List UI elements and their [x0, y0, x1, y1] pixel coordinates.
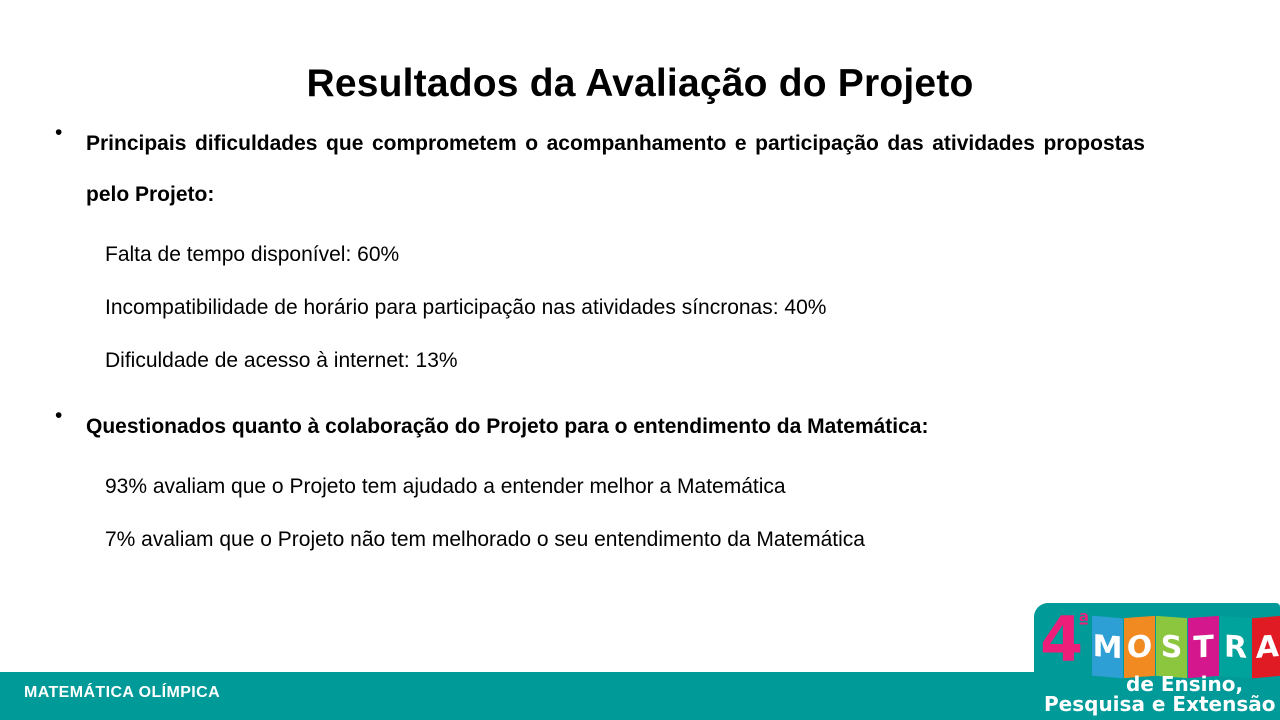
list-item: Dificuldade de acesso à internet: 13%	[50, 334, 1145, 387]
bullet-marker-icon: •	[55, 401, 62, 431]
logo-letter: S	[1161, 629, 1183, 666]
logo-ordinal-indicator: ª	[1078, 611, 1089, 631]
logo-letter-tile: A	[1252, 616, 1280, 679]
logo-letter: R	[1224, 629, 1247, 666]
logo-letter: T	[1193, 629, 1213, 665]
logo-subtitle-line-2: Pesquisa e Extensão	[1044, 693, 1276, 715]
presentation-slide: Resultados da Avaliação do Projeto • Pri…	[0, 0, 1280, 720]
logo-letter-tile: R	[1220, 616, 1251, 678]
list-item: 93% avaliam que o Projeto tem ajudado a …	[50, 460, 1145, 513]
sub-list-2: 93% avaliam que o Projeto tem ajudado a …	[50, 460, 1145, 566]
list-item: 7% avaliam que o Projeto não tem melhora…	[50, 513, 1145, 566]
list-item: Incompatibilidade de horário para partic…	[50, 281, 1145, 334]
logo-letter-tile: M	[1092, 616, 1123, 679]
group-spacer	[50, 387, 1145, 401]
bullet-group-2: • Questionados quanto à colaboração do P…	[50, 401, 1145, 452]
footer-project-label: MATEMÁTICA OLÍMPICA	[24, 684, 220, 702]
event-logo: 4 ª M O S T R A	[1034, 603, 1280, 720]
logo-letter: O	[1127, 629, 1153, 666]
logo-inner: 4 ª M O S T R A	[1034, 603, 1280, 720]
slide-title: Resultados da Avaliação do Projeto	[0, 62, 1280, 106]
logo-letter-tiles: M O S T R A	[1092, 617, 1280, 679]
bullet-heading-1: Principais dificuldades que comprometem …	[86, 118, 1145, 220]
bullet-marker-icon: •	[55, 118, 62, 148]
bullet-heading-2: Questionados quanto à colaboração do Pro…	[86, 401, 1145, 452]
bullet-group-1: • Principais dificuldades que compromete…	[50, 118, 1145, 220]
logo-number: 4	[1040, 609, 1083, 671]
logo-letter: A	[1256, 628, 1279, 665]
logo-letter: M	[1093, 628, 1123, 666]
logo-letter-tile: O	[1124, 616, 1155, 678]
logo-letter-tile: T	[1188, 616, 1219, 678]
logo-letter-tile: S	[1156, 616, 1187, 678]
list-item: Falta de tempo disponível: 60%	[50, 228, 1145, 281]
sub-list-1: Falta de tempo disponível: 60% Incompati…	[50, 228, 1145, 387]
slide-body: • Principais dificuldades que compromete…	[50, 118, 1145, 566]
